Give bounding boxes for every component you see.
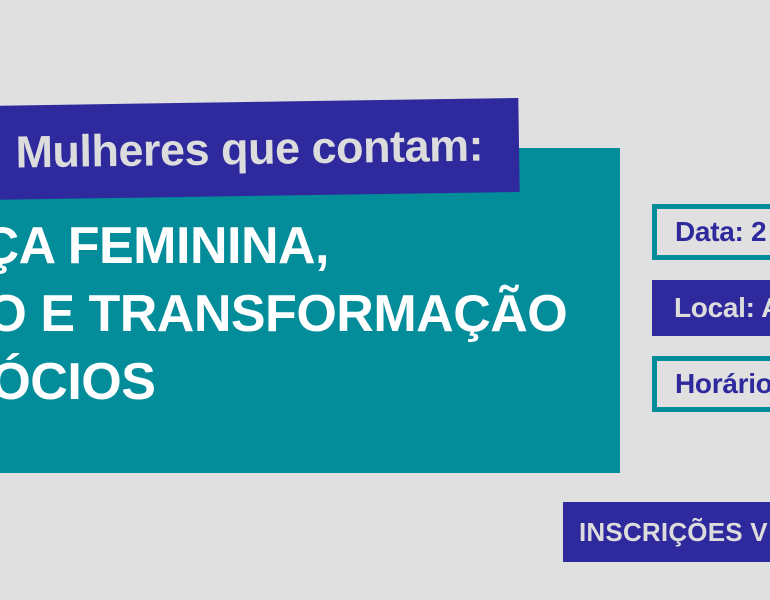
info-box-data: Data: 2 <box>652 204 770 260</box>
headline-line-2: INOVAÇÃO E TRANSFORMAÇÃO <box>0 280 574 348</box>
kicker-text: Mulheres que contam: <box>0 98 520 204</box>
event-poster: Mulheres que contam: LIDERANÇA FEMININA,… <box>0 0 770 600</box>
headline-line-1: LIDERANÇA FEMININA, <box>0 212 574 280</box>
registration-cta-button[interactable]: INSCRIÇÕES V <box>563 502 770 562</box>
headline-line-3: NOS NEGÓCIOS <box>0 348 574 416</box>
info-box-local: Local: A <box>652 280 770 336</box>
info-box-horario: Horário: <box>652 356 770 412</box>
page-title: LIDERANÇA FEMININA, INOVAÇÃO E TRANSFORM… <box>0 212 574 416</box>
